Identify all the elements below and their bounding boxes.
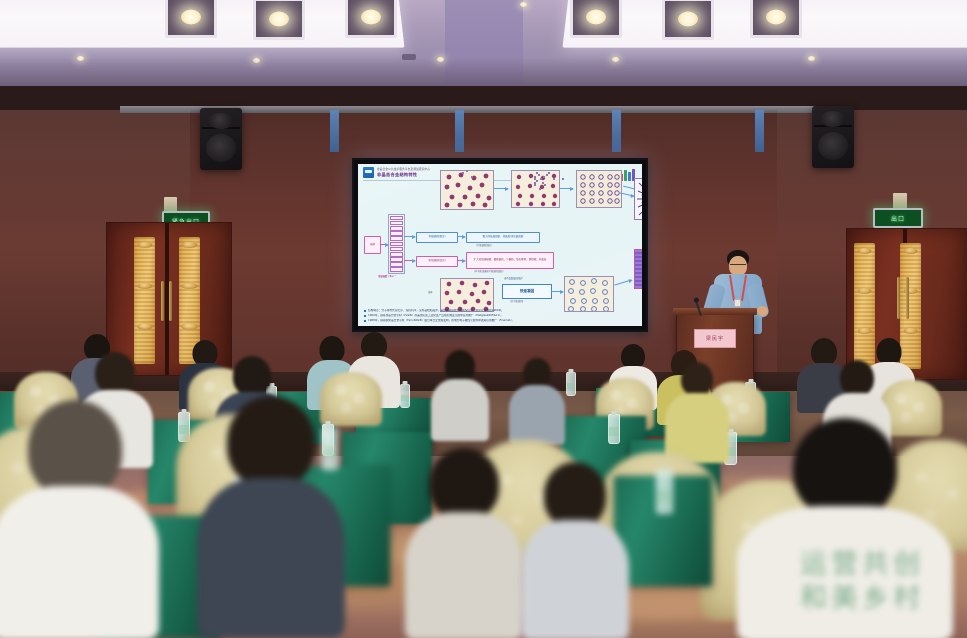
attendee-f2 [196, 396, 346, 638]
arrow-to-amorphous [614, 279, 632, 285]
wall-blue-strip-4 [755, 110, 764, 152]
arrow-conv [457, 236, 465, 237]
microstructure-amorphous-bottom-svg [565, 277, 613, 311]
arrow-top-1 [494, 188, 508, 189]
nucleation-label: 来不及结晶(形核)! [504, 276, 523, 280]
speaker-left [200, 108, 242, 170]
spacer7 [534, 176, 536, 178]
amorphous-state-box: 非晶态 [634, 249, 642, 289]
water-bottle-f3 [656, 470, 673, 514]
ceiling [0, 0, 967, 92]
microstructure-random-1 [440, 170, 494, 210]
shirt-text-line-2: 和美乡村 [800, 582, 924, 616]
attendee-m5 [664, 362, 730, 462]
bullet-marker [364, 310, 366, 312]
speaker-right [812, 106, 854, 168]
microstructure-random-1-svg [441, 171, 493, 209]
shirt-calligraphy: 运营共创 和美乡村 [800, 548, 924, 616]
cooling-rate-funnel [388, 214, 405, 274]
exit-sign-right: 出口 [873, 208, 923, 228]
wall-blue-strip-1 [330, 110, 339, 152]
bullet-marker [364, 320, 366, 322]
arrow-melt-funnel [380, 244, 388, 245]
arrow-funnel-conv [404, 236, 415, 237]
exit-sign-right-label: 出口 [891, 214, 905, 223]
attendee-f4-head [544, 462, 606, 528]
ceiling-light-6 [570, 0, 622, 38]
slide-bullet: 结构特点：分子排布长程无序、短程有序，没有晶粒和晶界，是快速凝固技术的典型应用，… [364, 309, 636, 312]
conference-hall-photo: 紧急出口 出口 非晶合金公共技术服务平台及 [0, 0, 967, 638]
attendee-f2-head [227, 396, 315, 488]
slide-bullet-list: 结构特点：分子排布长程无序、短程有序，没有晶粒和晶界，是快速凝固技术的典型应用，… [364, 309, 636, 322]
slide-org-line: 非晶合金公共技术服务平台及测试研究中心 [377, 167, 430, 171]
attendee-f3 [404, 448, 524, 638]
presenter-glasses [730, 264, 746, 268]
conventional-result-sub: (平衡凝固组织) [476, 243, 492, 247]
attendee-m1-head [95, 352, 135, 394]
attendee-m4-head [523, 358, 551, 388]
water-bottle-b4 [400, 384, 410, 408]
arrow-to-dendrite [620, 193, 634, 197]
dendrite-micrograph-svg [635, 179, 642, 219]
spacer3 [540, 178, 542, 180]
attendee-b4-head [361, 332, 387, 359]
ceiling-light-1 [165, 0, 217, 38]
attendee-f1 [0, 400, 160, 638]
ceiling-light-4 [750, 0, 802, 38]
cooling-rate-label: 冷却速度 / K·s⁻¹ [378, 274, 396, 278]
attendee-m4 [508, 358, 566, 446]
spacer15 [534, 184, 536, 186]
bullet-marker [364, 315, 366, 317]
melt-label-bottom: 熔体 [428, 290, 433, 294]
attendee-m4-body [509, 385, 565, 445]
attendee-m2-head [233, 356, 271, 396]
ceiling-light-2 [253, 0, 305, 40]
lectern-name-card-label: 梁民宇 [706, 335, 724, 342]
attendee-f5-head [793, 418, 897, 518]
lectern-top [673, 308, 757, 315]
wall-blue-strip-3 [612, 110, 621, 152]
spacer9 [546, 174, 548, 176]
attendee-f2-body [197, 478, 345, 638]
slide-bullet: 1988年，铁基纳米晶合金带材（FeCuNbSiB）由日本日立金属发明，在电力电… [364, 319, 636, 322]
door-right-handle-2[interactable] [906, 277, 909, 319]
spacer12 [548, 172, 550, 174]
spacer16 [539, 188, 541, 190]
spacer11 [466, 170, 468, 172]
spacer18 [471, 176, 473, 178]
door-left-handle-1[interactable] [161, 281, 164, 321]
rapid-result-sub: (不平衡或偏离平衡凝固组织) [474, 269, 503, 273]
lectern-name-card: 梁民宇 [694, 329, 736, 348]
slide-bullet: 1960年，铁基非晶合金带材（FeSiB）在美国实现工业化生产且在配电变压器中应… [364, 314, 636, 317]
attendee-m3-body [431, 379, 489, 441]
microstructure-amorphous-bottom [564, 276, 614, 312]
attendee-f1-head [28, 400, 122, 498]
door-right-handle-1[interactable] [897, 277, 900, 319]
arrow-top-2 [560, 188, 573, 189]
wall-blue-strip-2 [455, 110, 464, 152]
attendee-m3 [430, 350, 490, 442]
door-left-gold-panel-1 [134, 237, 155, 365]
slide-title: 非晶态合金结构特性 [377, 172, 430, 178]
arrow-funnel-rapid [404, 260, 415, 261]
shirt-text-line-1: 运营共创 [800, 548, 924, 582]
institute-logo [363, 167, 374, 178]
attendee-m6-head [840, 360, 874, 396]
microstructure-melt-bottom-svg [441, 279, 493, 311]
rapid-solidification-box: 新型凝固(快冷) [416, 256, 458, 267]
fast-cool-box: 快速凝固 [502, 284, 552, 299]
attendee-f4 [520, 462, 630, 638]
arrow-rapid [457, 260, 465, 261]
water-bottle-b5 [566, 372, 576, 396]
spacer14 [544, 184, 546, 186]
arrow-fast-cool [551, 291, 563, 292]
microstructure-ordered-svg [577, 171, 621, 207]
projection-screen: 非晶合金公共技术服务平台及测试研究中心 非晶态合金结构特性 熔体 [352, 158, 648, 332]
attendee-m3-head [445, 350, 475, 382]
melt-source-box: 熔体 [364, 236, 381, 254]
downlight-4 [520, 2, 527, 7]
water-bottle-m4 [608, 414, 620, 444]
spacer21 [562, 178, 564, 180]
spacer17 [462, 172, 464, 174]
conventional-result-box: 粗大的枝晶组织、共晶及/或包晶组织 [466, 232, 540, 243]
ceiling-light-3 [345, 0, 397, 38]
attendee-f3-body [405, 512, 523, 638]
spacer10 [553, 178, 555, 180]
fast-cool-sub: (非平衡凝固) [510, 299, 523, 303]
door-left-handle-2[interactable] [169, 281, 172, 321]
microstructure-ordered [576, 170, 622, 208]
spacer8 [536, 180, 538, 182]
spacer13 [536, 172, 538, 174]
slide-header: 非晶合金公共技术服务平台及测试研究中心 非晶态合金结构特性 [363, 167, 430, 178]
spacer [543, 176, 545, 178]
attendee-f3-head [429, 448, 499, 520]
attendee-m5-head [681, 362, 713, 396]
attendee-f4-body [521, 520, 629, 638]
microstructure-melt-bottom [440, 278, 494, 312]
rapid-result-box: 扩大的固溶极限、细密晶粒、少偏析、低孔隙率、亚稳相、非晶态 [466, 252, 554, 269]
ceiling-light-5 [662, 0, 714, 40]
dendrite-micrograph [634, 178, 642, 220]
presenter-hand-right [757, 306, 768, 316]
attendee-b3-head [320, 336, 345, 363]
conventional-solidification-box: 常规凝固(慢冷) [416, 232, 458, 243]
attendee-f1-body [0, 486, 159, 638]
presentation-slide: 非晶合金公共技术服务平台及测试研究中心 非晶态合金结构特性 熔体 [358, 164, 642, 326]
spacer4 [538, 174, 540, 176]
presenter-badge [734, 299, 741, 307]
